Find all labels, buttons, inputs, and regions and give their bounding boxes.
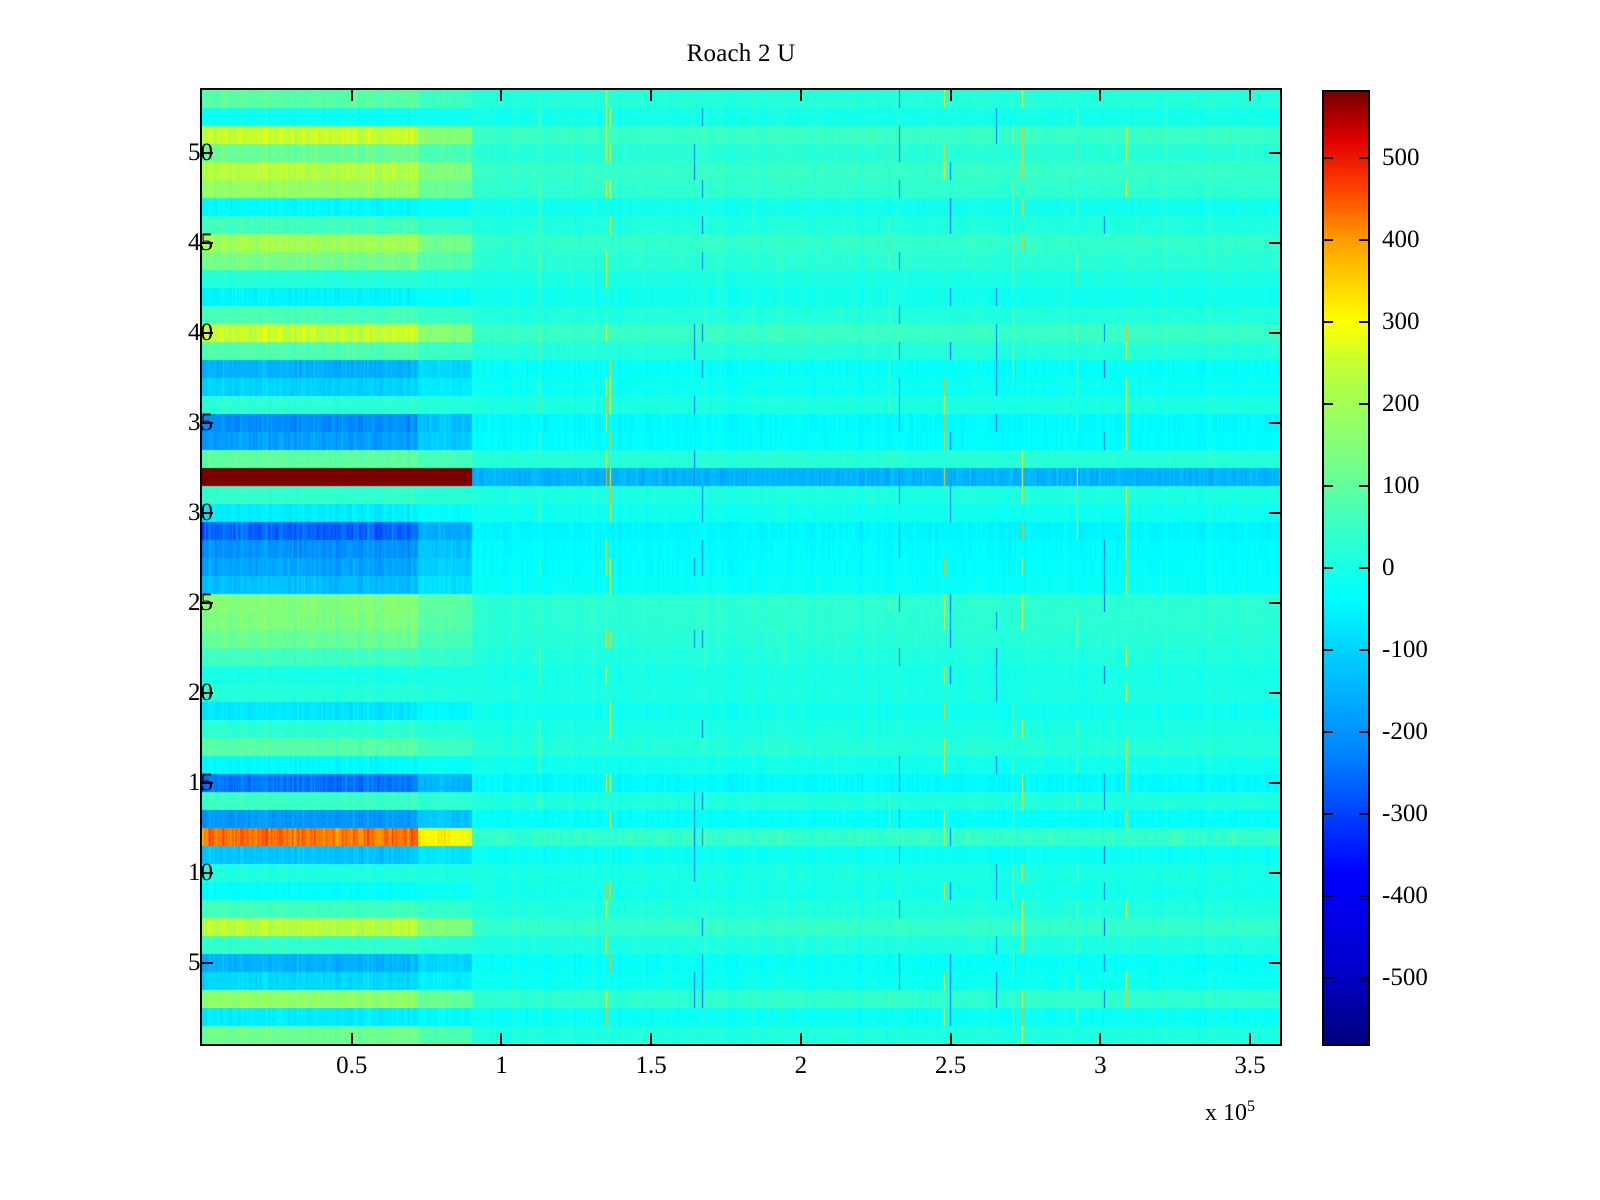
- colorbar-tick-right: [1359, 895, 1368, 897]
- y-axis-tick-right: [1269, 962, 1280, 964]
- x-axis-tick-top: [1099, 90, 1101, 101]
- colorbar-tick: [1324, 649, 1333, 651]
- colorbar-tick-label: -400: [1382, 882, 1428, 910]
- x-axis-tick-label: 2.5: [935, 1052, 966, 1080]
- matlab-figure-window: Roach 2 U x 105 0.511.522.533.5510152025…: [0, 0, 1600, 1200]
- colorbar-tick-right: [1359, 649, 1368, 651]
- colorbar-tick-label: -300: [1382, 800, 1428, 828]
- colorbar-tick-right: [1359, 977, 1368, 979]
- y-axis-tick-right: [1269, 872, 1280, 874]
- colorbar-tick: [1324, 321, 1333, 323]
- y-axis-tick-right: [1269, 422, 1280, 424]
- colorbar-tick-right: [1359, 731, 1368, 733]
- y-axis-tick: [202, 962, 213, 964]
- x-axis-tick-top: [351, 90, 353, 101]
- x-axis-tick-label: 3: [1094, 1052, 1107, 1080]
- x-axis-tick: [1099, 1033, 1101, 1044]
- colorbar-tick: [1324, 567, 1333, 569]
- x-axis-exponent-power: 5: [1247, 1098, 1255, 1115]
- x-axis-tick-label: 1: [495, 1052, 508, 1080]
- y-axis-tick-right: [1269, 602, 1280, 604]
- colorbar-tick-label: 200: [1382, 390, 1420, 418]
- x-axis-exponent-mantissa: x 10: [1205, 1100, 1247, 1126]
- y-axis-tick-right: [1269, 512, 1280, 514]
- colorbar-tick: [1324, 731, 1333, 733]
- heatmap-axes: [200, 88, 1282, 1046]
- colorbar: [1322, 90, 1370, 1046]
- x-axis-tick-label: 1.5: [636, 1052, 667, 1080]
- colorbar-tick: [1324, 813, 1333, 815]
- colorbar-tick-label: -500: [1382, 964, 1428, 992]
- colorbar-tick-label: 500: [1382, 144, 1420, 172]
- colorbar-tick-label: 0: [1382, 554, 1395, 582]
- x-axis-tick-top: [1249, 90, 1251, 101]
- x-axis-tick: [351, 1033, 353, 1044]
- colorbar-tick-label: 300: [1382, 308, 1420, 336]
- colorbar-tick: [1324, 895, 1333, 897]
- colorbar-tick: [1324, 977, 1333, 979]
- colorbar-tick: [1324, 157, 1333, 159]
- x-axis-tick-top: [650, 90, 652, 101]
- colorbar-tick-right: [1359, 321, 1368, 323]
- y-axis-tick-right: [1269, 692, 1280, 694]
- colorbar-tick: [1324, 403, 1333, 405]
- colorbar-tick: [1324, 485, 1333, 487]
- colorbar-tick-label: 100: [1382, 472, 1420, 500]
- colorbar-tick-label: 400: [1382, 226, 1420, 254]
- x-axis-tick-top: [500, 90, 502, 101]
- x-axis-tick: [500, 1033, 502, 1044]
- x-axis-tick: [950, 1033, 952, 1044]
- x-axis-exponent-label: x 105: [1205, 1098, 1255, 1127]
- x-axis-tick-label: 2: [795, 1052, 808, 1080]
- colorbar-tick-right: [1359, 403, 1368, 405]
- colorbar-tick-label: -100: [1382, 636, 1428, 664]
- x-axis-tick: [800, 1033, 802, 1044]
- x-axis-tick: [650, 1033, 652, 1044]
- x-axis-tick-label: 0.5: [336, 1052, 367, 1080]
- x-axis-tick-top: [800, 90, 802, 101]
- x-axis-tick: [1249, 1033, 1251, 1044]
- colorbar-tick-right: [1359, 157, 1368, 159]
- colorbar-tick-label: -200: [1382, 718, 1428, 746]
- y-axis-tick-right: [1269, 242, 1280, 244]
- x-axis-tick-top: [950, 90, 952, 101]
- y-axis-tick-right: [1269, 332, 1280, 334]
- colorbar-tick-right: [1359, 239, 1368, 241]
- colorbar-tick-right: [1359, 813, 1368, 815]
- colorbar-tick: [1324, 239, 1333, 241]
- x-axis-tick-label: 3.5: [1234, 1052, 1265, 1080]
- y-axis-tick-right: [1269, 782, 1280, 784]
- colorbar-tick-right: [1359, 567, 1368, 569]
- colorbar-tick-right: [1359, 485, 1368, 487]
- page-title: Roach 2 U: [200, 40, 1282, 68]
- y-axis-tick-right: [1269, 152, 1280, 154]
- heatmap-image: [202, 90, 1280, 1044]
